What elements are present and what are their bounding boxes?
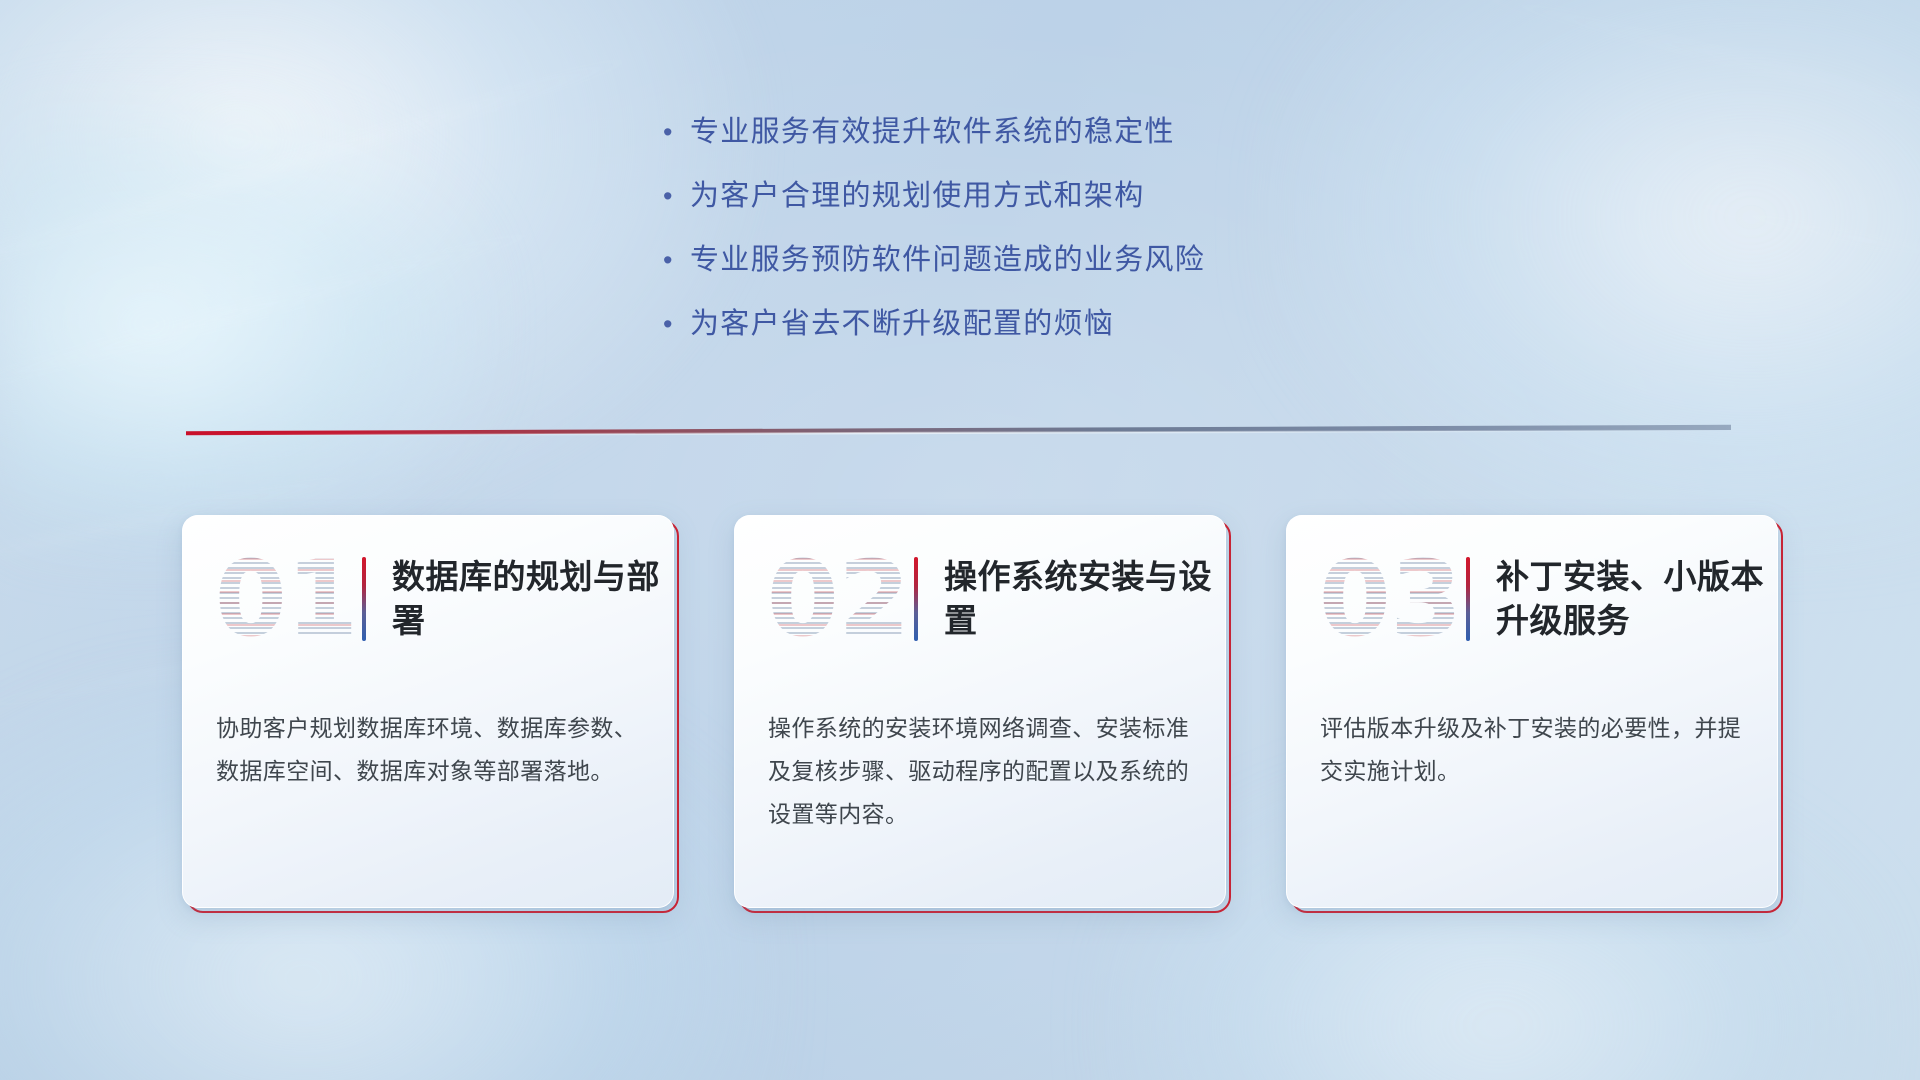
service-card-list: 01 01 数据库的规划与部署 协助客户规划数据库环境、数据库参数、数据库空间、… xyxy=(182,515,1778,908)
section-divider xyxy=(186,424,1731,440)
card-surface: 02 02 操作系统安装与设置 操作系统的安装环境网络调查、安装标准及复核步骤、… xyxy=(734,515,1226,908)
list-item: • 为客户省去不断升级配置的烦恼 xyxy=(660,300,1420,364)
card-title: 补丁安装、小版本升级服务 xyxy=(1496,555,1778,642)
card-header: 03 03 补丁安装、小版本升级服务 xyxy=(1286,529,1778,669)
benefits-bullet-list: • 专业服务有效提升软件系统的稳定性 • 为客户合理的规划使用方式和架构 • 专… xyxy=(660,108,1420,364)
card-separator-bar xyxy=(362,557,366,641)
service-card[interactable]: 01 01 数据库的规划与部署 协助客户规划数据库环境、数据库参数、数据库空间、… xyxy=(182,515,674,908)
card-number-watermark: 03 03 xyxy=(1314,539,1466,659)
card-header: 02 02 操作系统安装与设置 xyxy=(734,529,1226,669)
card-number-text: 01 xyxy=(215,547,358,651)
service-card[interactable]: 02 02 操作系统安装与设置 操作系统的安装环境网络调查、安装标准及复核步骤、… xyxy=(734,515,1226,908)
card-number-watermark: 02 02 xyxy=(762,539,914,659)
bullet-dot-icon: • xyxy=(660,119,690,146)
bullet-label: 为客户省去不断升级配置的烦恼 xyxy=(690,300,1114,342)
card-surface: 01 01 数据库的规划与部署 协助客户规划数据库环境、数据库参数、数据库空间、… xyxy=(182,515,674,908)
card-number-watermark: 01 01 xyxy=(210,539,362,659)
card-surface: 03 03 补丁安装、小版本升级服务 评估版本升级及补丁安装的必要性，并提交实施… xyxy=(1286,515,1778,908)
bullet-dot-icon: • xyxy=(660,183,690,210)
list-item: • 为客户合理的规划使用方式和架构 xyxy=(660,172,1420,236)
card-description: 操作系统的安装环境网络调查、安装标准及复核步骤、驱动程序的配置以及系统的设置等内… xyxy=(768,707,1196,837)
card-number-text: 02 xyxy=(767,547,910,651)
bullet-label: 专业服务有效提升软件系统的稳定性 xyxy=(690,108,1175,150)
bullet-dot-icon: • xyxy=(660,247,690,274)
service-card[interactable]: 03 03 补丁安装、小版本升级服务 评估版本升级及补丁安装的必要性，并提交实施… xyxy=(1286,515,1778,908)
bullet-dot-icon: • xyxy=(660,311,690,338)
card-separator-bar xyxy=(1466,557,1470,641)
card-header: 01 01 数据库的规划与部署 xyxy=(182,529,674,669)
divider-shape-icon xyxy=(186,424,1731,440)
card-title: 操作系统安装与设置 xyxy=(944,555,1226,642)
bullet-label: 专业服务预防软件问题造成的业务风险 xyxy=(690,236,1205,278)
card-number-text: 03 xyxy=(1319,547,1462,651)
list-item: • 专业服务预防软件问题造成的业务风险 xyxy=(660,236,1420,300)
card-separator-bar xyxy=(914,557,918,641)
card-title: 数据库的规划与部署 xyxy=(392,555,674,642)
card-description: 评估版本升级及补丁安装的必要性，并提交实施计划。 xyxy=(1320,707,1748,793)
list-item: • 专业服务有效提升软件系统的稳定性 xyxy=(660,108,1420,172)
card-description: 协助客户规划数据库环境、数据库参数、数据库空间、数据库对象等部署落地。 xyxy=(216,707,644,793)
bullet-label: 为客户合理的规划使用方式和架构 xyxy=(690,172,1145,214)
